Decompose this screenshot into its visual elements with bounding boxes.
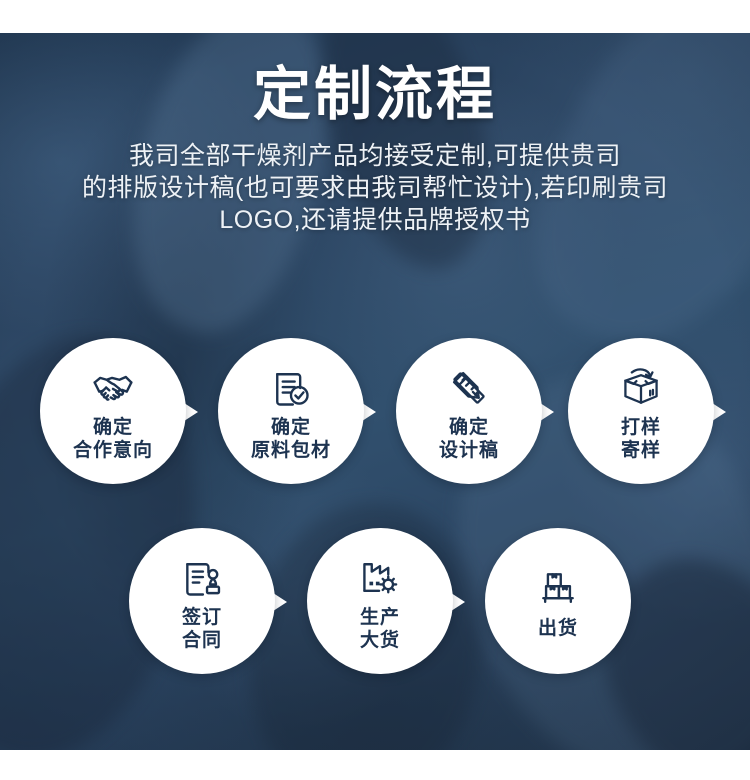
process-step-label: 打样 寄样 [621,416,661,462]
document-stamp-icon [179,555,225,601]
process-step-label-line1: 确定 [93,417,133,438]
process-row-2: 签订 合同 [0,528,750,674]
process-step-sign-contract[interactable]: 签订 合同 [129,528,275,674]
process-step-label: 出货 [538,617,578,640]
process-step-label-line1: 确定 [449,417,489,438]
process-step-label-line1: 生产 [360,607,400,628]
process-step-label: 确定 合作意向 [73,416,153,462]
subtitle-line-1: 我司全部干燥剂产品均接受定制,可提供贵司 [0,140,750,172]
header-block: 定制流程 我司全部干燥剂产品均接受定制,可提供贵司 的排版设计稿(也可要求由我司… [0,62,750,236]
process-step-sample-shipping[interactable]: 打样 寄样 [568,338,714,484]
pencil-ruler-icon [446,365,492,411]
subtitle-line-3: LOGO,还请提供品牌授权书 [0,204,750,236]
process-step-label-line1: 签订 [182,607,222,628]
process-step-label-line2: 大货 [360,629,400,652]
process-step-shipment[interactable]: 出货 [485,528,631,674]
factory-gear-icon [357,555,403,601]
process-step-confirm-design[interactable]: 确定 设计稿 [396,338,542,484]
process-step-label-line2: 合同 [182,629,222,652]
process-step-label-line2: 寄样 [621,439,661,462]
process-step-mass-production[interactable]: 生产 大货 [307,528,453,674]
process-step-label: 生产 大货 [360,606,400,652]
process-step-label: 确定 原料包材 [251,416,331,462]
process-step-label: 确定 设计稿 [439,416,499,462]
box-arrow-in-icon [618,365,664,411]
process-step-confirm-cooperation[interactable]: 确定 合作意向 [40,338,186,484]
stacked-boxes-icon [535,566,581,612]
promo-banner-canvas: 定制流程 我司全部干燥剂产品均接受定制,可提供贵司 的排版设计稿(也可要求由我司… [0,0,750,780]
subtitle-line-2: 的排版设计稿(也可要求由我司帮忙设计),若印刷贵司 [0,172,750,204]
process-row-1: 确定 合作意向 [0,338,750,484]
handshake-icon [90,365,136,411]
document-check-icon [268,365,314,411]
process-step-label-line1: 出货 [538,618,578,639]
process-step-label-line2: 合作意向 [73,439,153,462]
process-step-label: 签订 合同 [182,606,222,652]
process-step-confirm-materials[interactable]: 确定 原料包材 [218,338,364,484]
process-step-label-line1: 确定 [271,417,311,438]
page-title: 定制流程 [0,62,750,128]
process-step-label-line1: 打样 [621,417,661,438]
process-step-label-line2: 设计稿 [439,439,499,462]
process-step-label-line2: 原料包材 [251,439,331,462]
page-subtitle: 我司全部干燥剂产品均接受定制,可提供贵司 的排版设计稿(也可要求由我司帮忙设计)… [0,140,750,236]
